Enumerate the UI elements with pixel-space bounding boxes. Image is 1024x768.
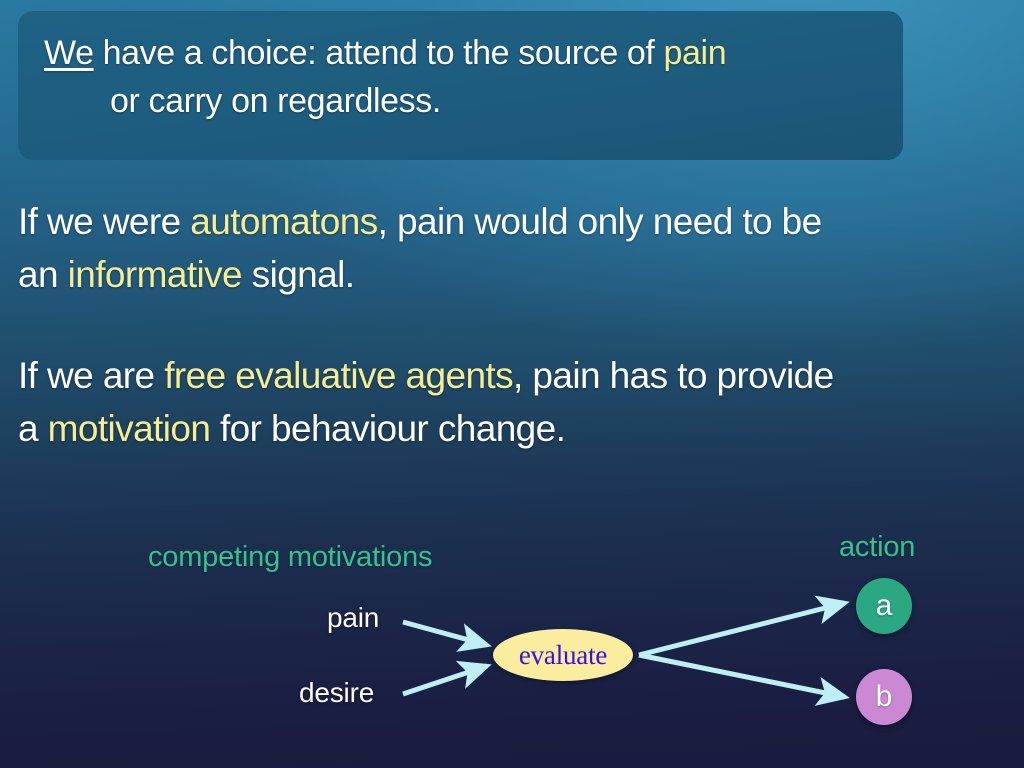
- diagram-outcome-b-label: b: [876, 682, 893, 712]
- arrow-pain-to-evaluate: [403, 622, 487, 645]
- arrow-evaluate-to-a: [639, 603, 845, 655]
- diagram-outcome-a: a: [856, 578, 912, 634]
- arrow-desire-to-evaluate: [403, 666, 487, 694]
- diagram-node-evaluate: evaluate: [493, 629, 633, 681]
- diagram-node-evaluate-label: evaluate: [519, 640, 607, 671]
- slide-canvas: We have a choice: attend to the source o…: [0, 0, 1024, 768]
- diagram-outcome-a-label: a: [876, 591, 893, 621]
- decision-flow-diagram: competing motivations action pain desire…: [0, 0, 1024, 768]
- diagram-outcome-b: b: [856, 669, 912, 725]
- arrow-evaluate-to-b: [639, 655, 845, 697]
